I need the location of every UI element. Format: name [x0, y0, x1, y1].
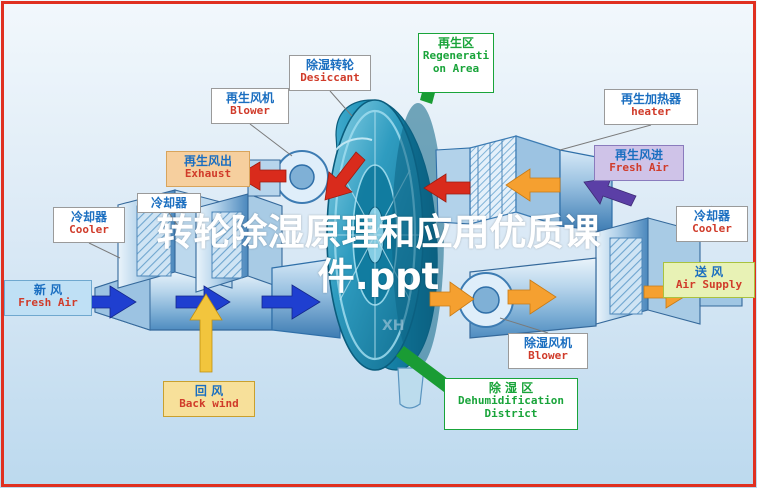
- label-back-wind: 回 风Back wind: [163, 381, 255, 417]
- label-text-cn: 再生风进: [595, 148, 683, 162]
- label-text-en: Blower: [509, 350, 587, 363]
- label-text-en: Fresh Air: [595, 162, 683, 175]
- label-regeneration-fresh-air: 再生风进Fresh Air: [594, 145, 684, 181]
- label-text-cn: 再生风机: [212, 91, 288, 105]
- diagram-canvas: XH 除湿转轮Desiccant 再生风机Blower 再生区Regenerat…: [0, 0, 757, 488]
- label-regeneration-exhaust: 再生风出Exhaust: [166, 151, 250, 187]
- label-text-en: Regenerati on Area: [419, 50, 493, 76]
- overlay-title-line2: 件.ppt: [0, 255, 757, 299]
- label-text-en: heater: [605, 106, 697, 119]
- label-text-en: Desiccant: [290, 72, 370, 85]
- label-regeneration-blower: 再生风机Blower: [211, 88, 289, 124]
- label-dehumidification-blower: 除湿风机Blower: [508, 333, 588, 369]
- label-text-cn: 再生区: [419, 36, 493, 50]
- label-dehumidification-district: 除 湿 区Dehumidification District: [444, 378, 578, 430]
- label-text-en: Exhaust: [167, 168, 249, 181]
- overlay-title-line1: 转轮除湿原理和应用优质课: [0, 211, 757, 255]
- label-text-cn: 再生加热器: [605, 92, 697, 106]
- label-text-en: Dehumidification District: [445, 395, 577, 421]
- label-text-en: Fresh Air: [5, 297, 91, 310]
- label-text-cn: 冷却器: [138, 196, 200, 210]
- label-text-cn: 再生风出: [167, 154, 249, 168]
- svg-text:XH: XH: [382, 318, 405, 334]
- label-text-cn: 回 风: [164, 384, 254, 398]
- label-regeneration-heater: 再生加热器heater: [604, 89, 698, 125]
- label-text-cn: 除 湿 区: [445, 381, 577, 395]
- label-text-en: Blower: [212, 105, 288, 118]
- label-text-cn: 除湿风机: [509, 336, 587, 350]
- label-regeneration-area: 再生区Regenerati on Area: [418, 33, 494, 93]
- label-text-cn: 除湿转轮: [290, 58, 370, 72]
- label-text-en: Back wind: [164, 398, 254, 411]
- label-desiccant-wheel: 除湿转轮Desiccant: [289, 55, 371, 91]
